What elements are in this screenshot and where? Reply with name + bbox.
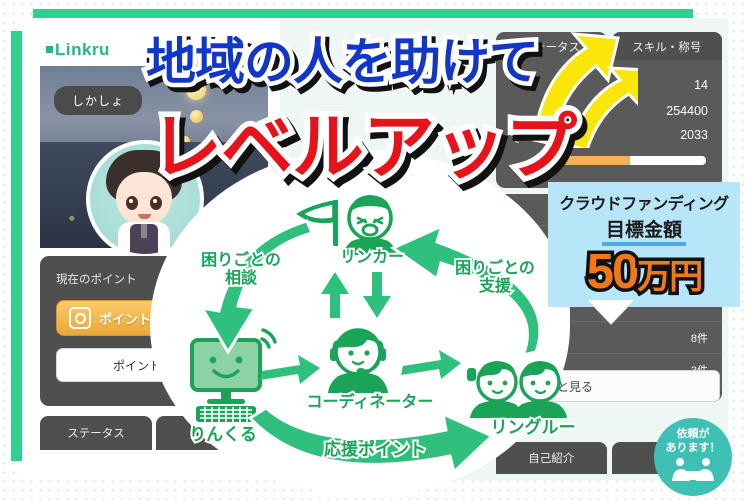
headline-line1: 地域の人を助けて <box>146 22 538 94</box>
node-label-linker: リンカー <box>312 249 432 267</box>
camera-icon <box>69 307 91 329</box>
brand-square-icon <box>46 46 53 53</box>
tab-self-intro-label: 自己紹介 <box>528 450 574 466</box>
node-label-coordinator: コーディネーター <box>270 394 470 412</box>
crowdfunding-amount-unit: 万円 <box>637 258 701 296</box>
crowdfunding-badge: クラウドファンディング 目標金額 50万円 <box>548 182 740 307</box>
tab-self-intro[interactable]: 自己紹介 <box>496 442 607 474</box>
crowdfunding-subtitle: 目標金額 <box>602 215 686 246</box>
crowdfunding-pointer-triangle <box>588 300 634 324</box>
list-item-count: 8件 <box>691 330 708 346</box>
headline-line2: レベルアップ <box>150 88 576 193</box>
stats-tab-skill-title-label: スキル・称号 <box>632 39 701 55</box>
avatar-mouth <box>138 214 151 219</box>
username-badge: しかしょ <box>54 86 142 115</box>
stats-value-1: 254400 <box>666 104 708 118</box>
profile-tab-status[interactable]: ステータス <box>40 416 152 450</box>
flow-label-cheer: 応援ポイント <box>280 440 470 459</box>
node-label-ringuru: リングルー <box>468 418 598 437</box>
brand-logo: Linkru <box>46 40 110 60</box>
points-label: 現在のポイント <box>56 271 137 287</box>
handshake-icon <box>671 457 715 483</box>
avatar-eye-left <box>126 196 138 210</box>
crowdfunding-title: クラウドファンディング <box>559 190 728 214</box>
crowdfunding-amount-number: 50 <box>587 245 638 299</box>
stats-value-2: 2033 <box>680 128 708 142</box>
profile-tab-status-label: ステータス <box>67 425 125 441</box>
request-badge-line1: 依頼が <box>677 428 710 442</box>
request-badge-line2: あります！ <box>666 442 721 456</box>
request-badge[interactable]: 依頼が あります！ <box>654 418 732 496</box>
screenshot-root: Linkru しかしょ 現在の <box>0 0 750 500</box>
stats-value-0: 14 <box>694 78 708 92</box>
crowdfunding-amount: 50万円 <box>587 248 702 297</box>
brand-name: Linkru <box>55 40 110 59</box>
avatar-tie <box>141 224 147 238</box>
node-label-rinkuru: りんくる <box>158 425 288 444</box>
flow-label-consult: 困りごとの 相談 <box>166 252 316 288</box>
avatar-eye-right <box>150 196 162 210</box>
flow-label-support: 困りごとの 支援 <box>422 260 568 296</box>
